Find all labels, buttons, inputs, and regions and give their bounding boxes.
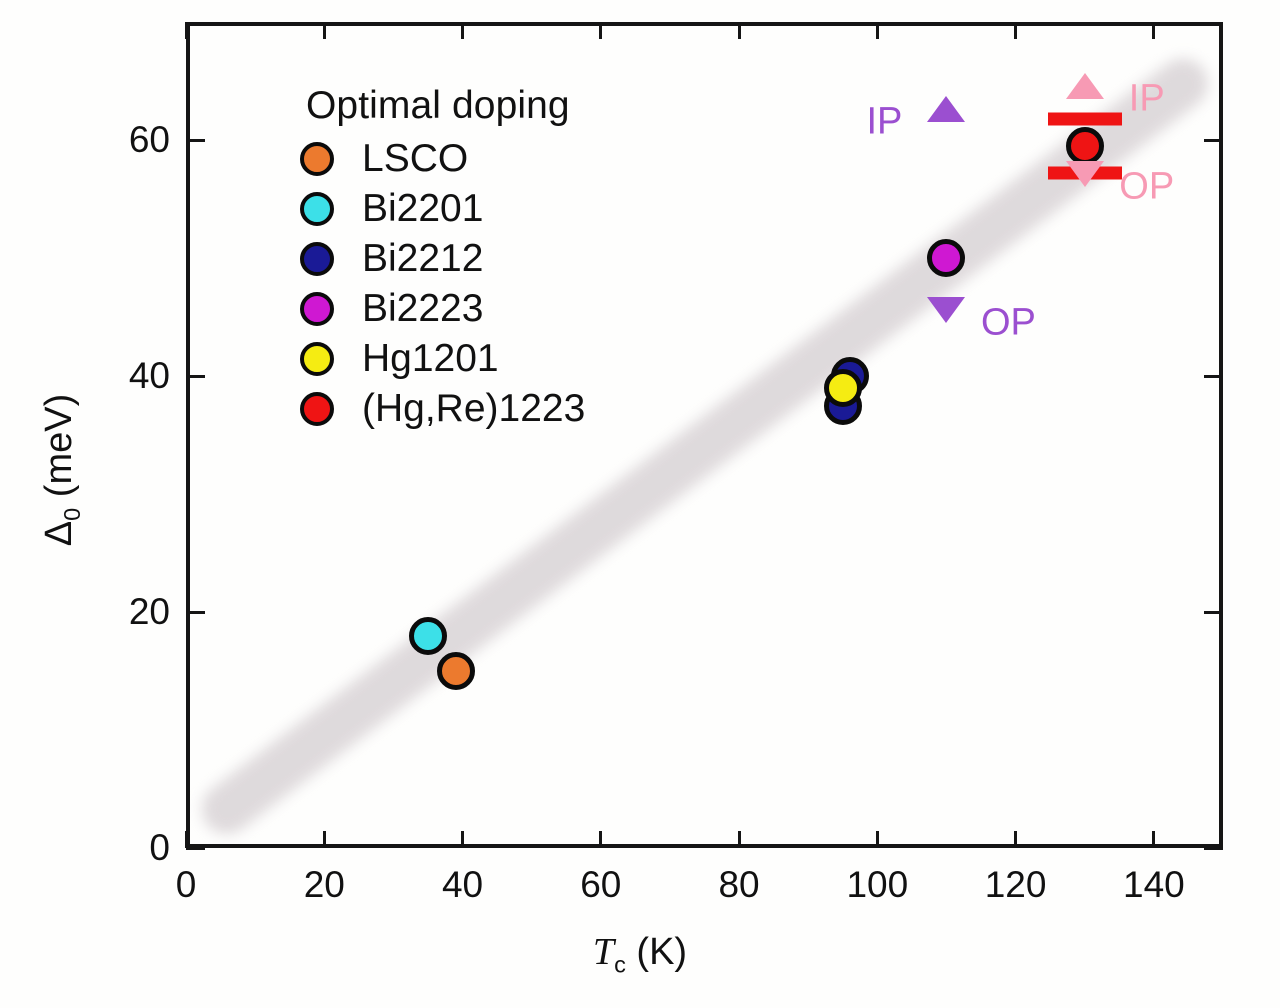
y-axis-title-subscript: 0	[59, 508, 85, 521]
x-axis-title-symbol: T	[593, 931, 614, 973]
y-tick-label: 20	[129, 591, 170, 633]
y-tick-mark-right	[1204, 611, 1223, 614]
legend-item-bi2223[interactable]: Bi2223	[300, 284, 585, 334]
x-tick-label: 120	[985, 864, 1047, 906]
y-tick-label: 0	[149, 827, 170, 869]
x-tick-mark-top	[323, 22, 326, 39]
marker-triangle-down-op[interactable]	[927, 297, 965, 323]
legend-swatch-bi2223	[300, 292, 334, 326]
x-axis-title-unit: (K)	[626, 931, 687, 973]
marker-triangle-up-ip[interactable]	[1066, 73, 1104, 99]
x-tick-label: 0	[176, 864, 197, 906]
y-tick-label: 40	[129, 355, 170, 397]
legend-item-bi2201[interactable]: Bi2201	[300, 184, 585, 234]
legend-swatch-bi2201	[300, 192, 334, 226]
legend-item-label: Bi2212	[362, 237, 483, 281]
data-point-lsco[interactable]	[437, 652, 475, 690]
legend-swatch--hg-re-1223	[300, 392, 334, 426]
y-tick-mark	[186, 847, 205, 850]
x-tick-label: 60	[580, 864, 621, 906]
legend-item-lsco[interactable]: LSCO	[300, 134, 585, 184]
x-tick-label: 100	[846, 864, 908, 906]
legend-title: Optimal doping	[306, 84, 585, 128]
legend-item-label: Bi2223	[362, 287, 483, 331]
y-tick-mark-right	[1204, 139, 1223, 142]
legend-item--hg-re-1223[interactable]: (Hg,Re)1223	[300, 384, 585, 434]
x-tick-mark	[738, 831, 741, 848]
x-tick-label: 20	[304, 864, 345, 906]
annotation-label-op: OP	[981, 301, 1036, 344]
legend-swatch-bi2212	[300, 242, 334, 276]
x-tick-mark-top	[185, 22, 188, 39]
y-tick-mark-right	[1204, 847, 1223, 850]
data-point--hg-re-1223[interactable]	[1066, 127, 1104, 165]
x-tick-mark	[1152, 831, 1155, 848]
data-point-hg1201[interactable]	[824, 369, 862, 407]
axis-spine-top	[186, 22, 1223, 26]
legend-item-bi2212[interactable]: Bi2212	[300, 234, 585, 284]
axis-spine-left	[186, 22, 190, 848]
x-tick-mark	[461, 831, 464, 848]
y-axis-title: Δ0 (meV)	[38, 394, 86, 547]
x-tick-mark-top	[599, 22, 602, 39]
legend-item-label: Hg1201	[362, 337, 499, 381]
x-tick-label: 40	[442, 864, 483, 906]
x-axis-title: Tc (K)	[593, 930, 687, 979]
axis-spine-bottom	[186, 844, 1223, 848]
legend: Optimal doping LSCOBi2201Bi2212Bi2223Hg1…	[300, 84, 585, 434]
legend-swatch-hg1201	[300, 342, 334, 376]
x-tick-mark	[876, 831, 879, 848]
y-tick-mark	[186, 139, 205, 142]
legend-item-label: LSCO	[362, 137, 468, 181]
marker-triangle-up-ip[interactable]	[927, 96, 965, 122]
annotation-label-ip: IP	[1129, 77, 1165, 120]
x-tick-label: 140	[1123, 864, 1185, 906]
data-point-bi2201[interactable]	[409, 617, 447, 655]
x-tick-mark-top	[876, 22, 879, 39]
annotation-label-op: OP	[1119, 166, 1174, 209]
data-point-bi2223[interactable]	[927, 239, 965, 277]
x-axis-title-subscript: c	[614, 952, 626, 978]
annotation-label-ip: IP	[867, 101, 903, 144]
x-tick-mark	[1014, 831, 1017, 848]
legend-item-hg1201[interactable]: Hg1201	[300, 334, 585, 384]
legend-items: LSCOBi2201Bi2212Bi2223Hg1201(Hg,Re)1223	[300, 134, 585, 434]
x-tick-mark-top	[461, 22, 464, 39]
x-tick-mark-top	[1152, 22, 1155, 39]
y-tick-mark	[186, 375, 205, 378]
axis-spine-right	[1219, 22, 1223, 848]
legend-item-label: Bi2201	[362, 187, 483, 231]
x-tick-label: 80	[718, 864, 759, 906]
figure-root: IPOPIPOP 020406080100120140 0204060 Tc (…	[0, 0, 1280, 1008]
x-tick-mark	[599, 831, 602, 848]
y-axis-title-symbol: Δ	[38, 521, 80, 546]
x-tick-mark	[323, 831, 326, 848]
y-tick-label: 60	[129, 119, 170, 161]
y-tick-mark	[186, 611, 205, 614]
y-tick-mark-right	[1204, 375, 1223, 378]
legend-swatch-lsco	[300, 142, 334, 176]
x-tick-mark-top	[1014, 22, 1017, 39]
marker-triangle-down-op[interactable]	[1066, 161, 1104, 187]
x-tick-mark	[185, 831, 188, 848]
error-bar-cap	[1048, 112, 1122, 125]
legend-item-label: (Hg,Re)1223	[362, 387, 585, 431]
x-tick-mark-top	[738, 22, 741, 39]
y-axis-title-unit: (meV)	[38, 394, 80, 508]
